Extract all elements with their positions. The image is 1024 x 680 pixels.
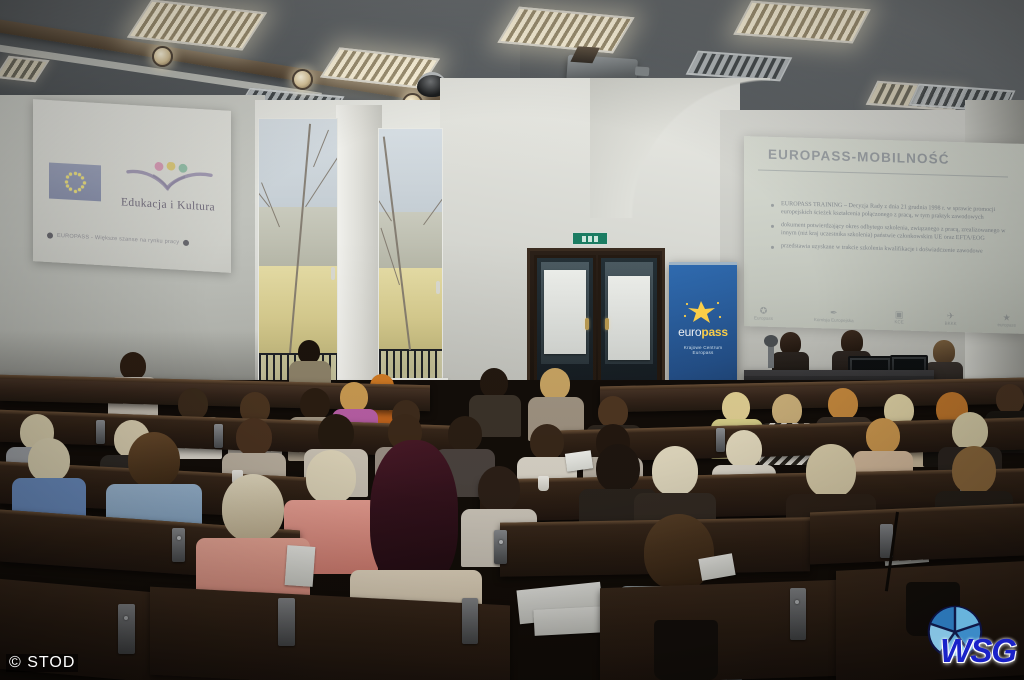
footer-bullet-icon bbox=[47, 232, 53, 238]
microphone bbox=[768, 342, 774, 368]
attendee-head bbox=[596, 444, 640, 492]
attendee-head bbox=[480, 368, 508, 398]
wall-column bbox=[336, 105, 382, 395]
paper-cup[interactable] bbox=[538, 476, 549, 491]
seat-bracket bbox=[172, 528, 185, 562]
wsg-watermark: WSG bbox=[920, 600, 1020, 676]
eu-flag-icon bbox=[49, 163, 101, 202]
handout-papers[interactable] bbox=[285, 545, 316, 587]
slide-title-rule bbox=[758, 169, 1008, 177]
seat-row[interactable] bbox=[810, 504, 1024, 565]
attendee-head bbox=[370, 440, 458, 590]
attendee-head bbox=[828, 388, 858, 420]
window-handle[interactable] bbox=[436, 281, 440, 294]
seat-bracket bbox=[462, 598, 478, 644]
left-screen-footer: EUROPASS - Większe szanse na rynku pracy bbox=[47, 232, 219, 247]
seat-bolt bbox=[177, 536, 181, 540]
exit-glyph bbox=[582, 236, 586, 242]
eu-star-icon bbox=[74, 189, 77, 192]
window-right bbox=[378, 128, 443, 382]
seat-bracket bbox=[118, 604, 135, 654]
slide-footer-logo: ✈ BKKK bbox=[945, 312, 957, 326]
wsg-watermark-text: WSG bbox=[940, 632, 1016, 670]
seat-bracket bbox=[716, 428, 725, 452]
banner-brand-suffix: pass bbox=[701, 325, 728, 339]
door-handle[interactable] bbox=[605, 318, 609, 330]
exit-glyph bbox=[594, 236, 598, 242]
attendee-head bbox=[306, 450, 356, 504]
window-yellow-wall bbox=[259, 266, 337, 354]
slide-footer-logo: ✒ Komisja Europejska bbox=[814, 308, 854, 323]
seat-bolt bbox=[795, 600, 799, 604]
europass-roll-up-banner: europass Krajowe Centrum Europass bbox=[669, 262, 737, 393]
attendee-head bbox=[726, 430, 762, 468]
handout-paper[interactable] bbox=[565, 450, 593, 471]
attendee-head bbox=[540, 368, 570, 400]
eu-star-icon bbox=[65, 180, 68, 183]
eu-star-icon bbox=[74, 171, 77, 174]
logo-label: Europass bbox=[754, 315, 773, 321]
attendee-head bbox=[996, 384, 1024, 414]
logo-label: KCE bbox=[894, 319, 903, 324]
logo-label: europass bbox=[997, 322, 1016, 328]
attendee-head bbox=[236, 418, 272, 456]
attendee-head bbox=[128, 432, 180, 488]
door-handle[interactable] bbox=[585, 318, 589, 330]
window-building bbox=[379, 212, 442, 267]
ceiling-spot-light bbox=[292, 69, 313, 90]
attendee-head bbox=[340, 382, 368, 412]
eu-star-icon bbox=[81, 176, 84, 179]
speaker-head bbox=[933, 340, 955, 364]
footer-bullet-icon bbox=[183, 240, 189, 246]
attendee-head bbox=[952, 446, 996, 494]
slide-footer-logos: ✪ Europass ✒ Komisja Europejska ▣ KCE ✈ … bbox=[754, 300, 1016, 327]
handbag[interactable] bbox=[654, 620, 718, 680]
attendee-head bbox=[530, 424, 564, 460]
slide-bullet: przedstawia uzyskane w trakcie szkolenia… bbox=[770, 243, 1008, 257]
eu-star-icon bbox=[78, 188, 81, 191]
attendee-head bbox=[448, 416, 482, 452]
attendee-head bbox=[652, 446, 698, 496]
attendee-head bbox=[318, 414, 354, 452]
eu-star-icon bbox=[69, 172, 72, 175]
ceiling-spot-light bbox=[152, 46, 173, 67]
logo-label: Komisja Europejska bbox=[814, 317, 854, 323]
logo-label: BKKK bbox=[945, 321, 957, 326]
banner-brand-prefix: euro bbox=[678, 325, 701, 339]
copyright-notice: © STOD bbox=[6, 654, 78, 672]
slide-bullet-list: EUROPASS TRAINING – Decyzja Rady z dnia … bbox=[770, 201, 1008, 264]
banner-brand: europass bbox=[674, 325, 732, 339]
education-culture-logo-icon bbox=[123, 160, 217, 199]
window-handle[interactable] bbox=[331, 267, 335, 280]
door-paper-sign bbox=[544, 270, 586, 354]
logo-mark-icon: ▣ bbox=[894, 310, 903, 319]
seat-bracket bbox=[96, 420, 105, 444]
attendee-head bbox=[722, 392, 750, 422]
exit-glyph bbox=[588, 236, 592, 242]
education-culture-caption: Edukacja i Kultura bbox=[121, 196, 231, 214]
slide-bullet: dokument potwierdzający okres odbytego s… bbox=[770, 222, 1008, 244]
eu-star-icon bbox=[69, 188, 72, 191]
left-screen-footer-text: EUROPASS - Większe szanse na rynku pracy bbox=[57, 233, 179, 246]
attendee-head bbox=[866, 418, 900, 454]
projection-screen-right: EUROPASS-MOBILNOŚĆ EUROPASS TRAINING – D… bbox=[744, 136, 1024, 334]
banner-subtitle: Krajowe Centrum Europass bbox=[674, 345, 732, 355]
lecture-hall-photo: Edukacja i Kultura EUROPASS - Większe sz… bbox=[0, 0, 1024, 680]
eu-star-icon bbox=[83, 181, 86, 184]
handout-papers[interactable] bbox=[533, 606, 606, 636]
attendee-head bbox=[806, 444, 856, 498]
slide-footer-logo: ★ europass bbox=[997, 313, 1016, 328]
attendee-head bbox=[300, 388, 330, 420]
emergency-exit-sign bbox=[572, 232, 608, 245]
projection-screen-left: Edukacja i Kultura EUROPASS - Większe sz… bbox=[33, 99, 231, 273]
eu-star-icon bbox=[81, 185, 84, 188]
attendee-head bbox=[222, 474, 284, 542]
eu-star-icon bbox=[66, 175, 69, 178]
eu-star-icon bbox=[66, 184, 69, 187]
seat-bracket bbox=[790, 588, 806, 640]
seat-bolt bbox=[499, 540, 503, 544]
slide-bullet: EUROPASS TRAINING – Decyzja Rady z dnia … bbox=[770, 201, 1008, 223]
door-paper-sign bbox=[608, 276, 650, 360]
attendee-head bbox=[952, 412, 988, 450]
slide-footer-logo: ✪ Europass bbox=[754, 306, 773, 321]
europass-star-icon bbox=[683, 299, 723, 325]
door-leaf-right[interactable] bbox=[598, 255, 660, 393]
seat-bracket bbox=[278, 598, 295, 646]
eu-star-icon bbox=[78, 173, 81, 176]
slide-title: EUROPASS-MOBILNOŚĆ bbox=[768, 147, 950, 167]
seat-bolt bbox=[124, 616, 128, 620]
slide-footer-logo: ▣ KCE bbox=[894, 310, 903, 324]
attendee-head bbox=[772, 394, 802, 426]
logo-mark-icon: ✈ bbox=[945, 312, 957, 321]
attendee-head bbox=[28, 438, 70, 482]
attendee-head bbox=[120, 352, 146, 380]
seat-bracket bbox=[214, 424, 223, 448]
seat-bracket bbox=[494, 530, 507, 564]
window-yellow-wall bbox=[379, 268, 442, 351]
attendee-head bbox=[478, 466, 520, 512]
